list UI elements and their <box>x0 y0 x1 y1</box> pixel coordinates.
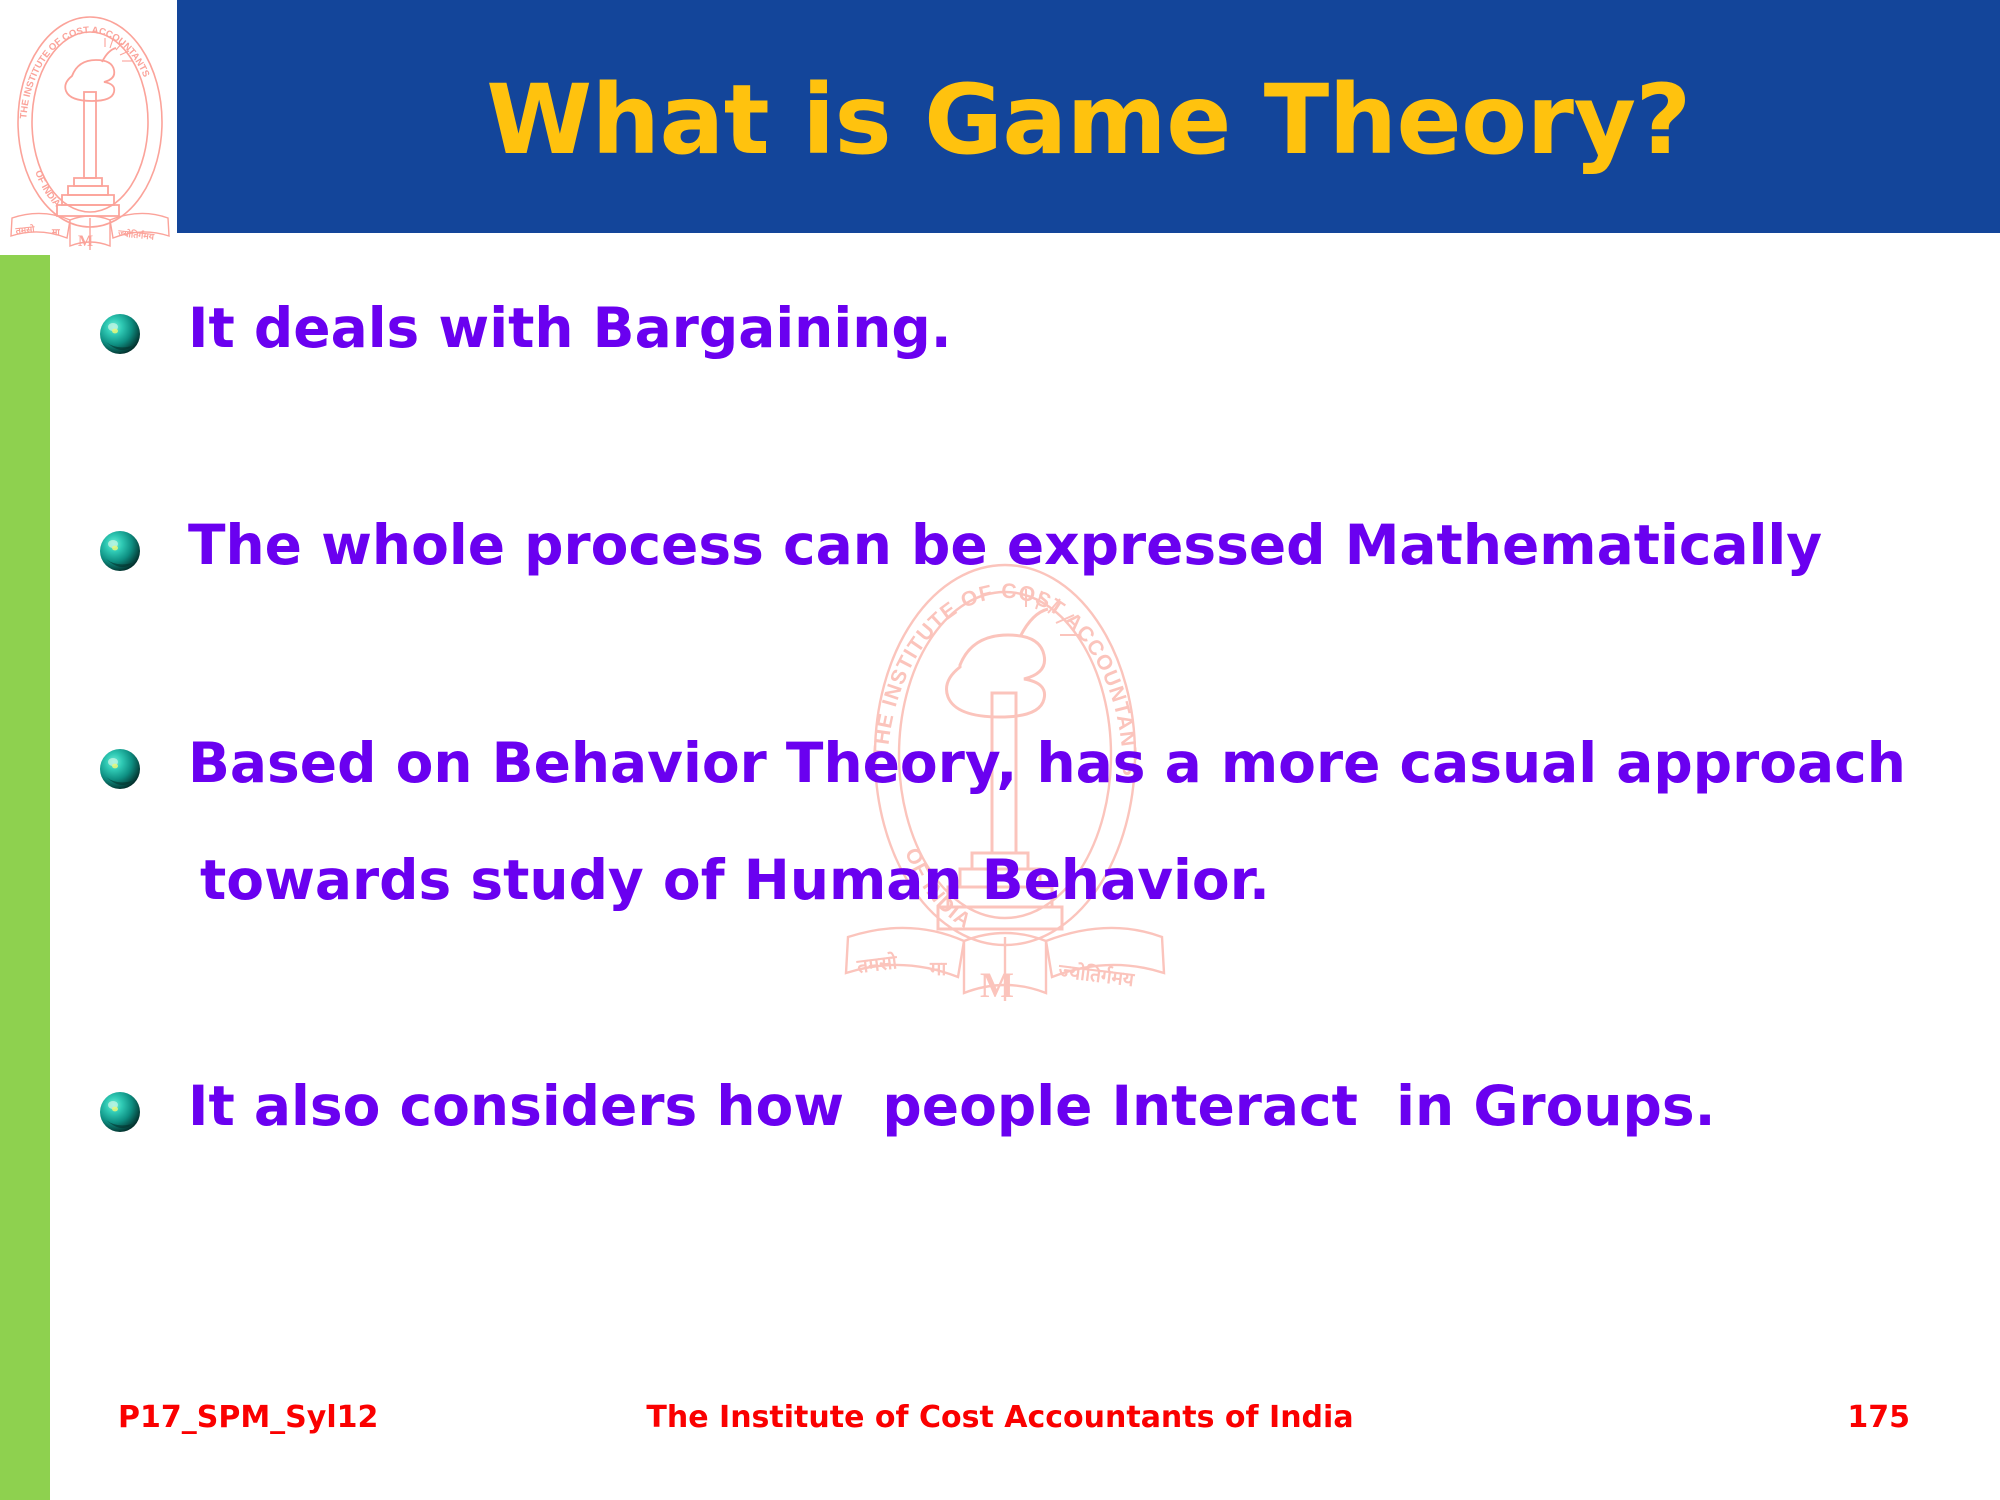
list-item: The whole process can be expressed Mathe… <box>98 515 1822 577</box>
emerald-ball-bullet-icon <box>98 747 142 791</box>
list-item: It deals with Bargaining. <box>98 298 952 360</box>
institute-seal-logo-icon: THE INSTITUTE OF COST ACCOUNTANTS OF IND… <box>6 4 174 252</box>
slide-footer: P17_SPM_Syl12 The Institute of Cost Acco… <box>0 1400 2000 1460</box>
bullet-list: It deals with Bargaining. The whole proc… <box>0 233 2000 1383</box>
title-banner: What is Game Theory? <box>177 0 2000 233</box>
svg-text:OF INDIA: OF INDIA <box>32 169 62 210</box>
list-item-continuation-label: towards study of Human Behavior. <box>200 850 1270 912</box>
list-item-continuation: towards study of Human Behavior. <box>200 850 1270 912</box>
slide-canvas: THE INSTITUTE OF COST ACCOUNTANTS OF IND… <box>0 0 2000 1500</box>
footer-institute-name: The Institute of Cost Accountants of Ind… <box>0 1400 2000 1435</box>
list-item-label: It also considers how people Interact in… <box>188 1076 1716 1138</box>
list-item: Based on Behavior Theory, has a more cas… <box>98 733 1906 795</box>
emerald-ball-bullet-icon <box>98 1090 142 1134</box>
list-item-label: Based on Behavior Theory, has a more cas… <box>188 733 1906 795</box>
list-item-label: The whole process can be expressed Mathe… <box>188 515 1822 577</box>
page-title: What is Game Theory? <box>486 72 1690 168</box>
list-item-label: It deals with Bargaining. <box>188 298 952 360</box>
list-item: It also considers how people Interact in… <box>98 1076 1716 1138</box>
footer-page-number: 175 <box>1847 1400 1910 1435</box>
emerald-ball-bullet-icon <box>98 312 142 356</box>
emerald-ball-bullet-icon <box>98 529 142 573</box>
